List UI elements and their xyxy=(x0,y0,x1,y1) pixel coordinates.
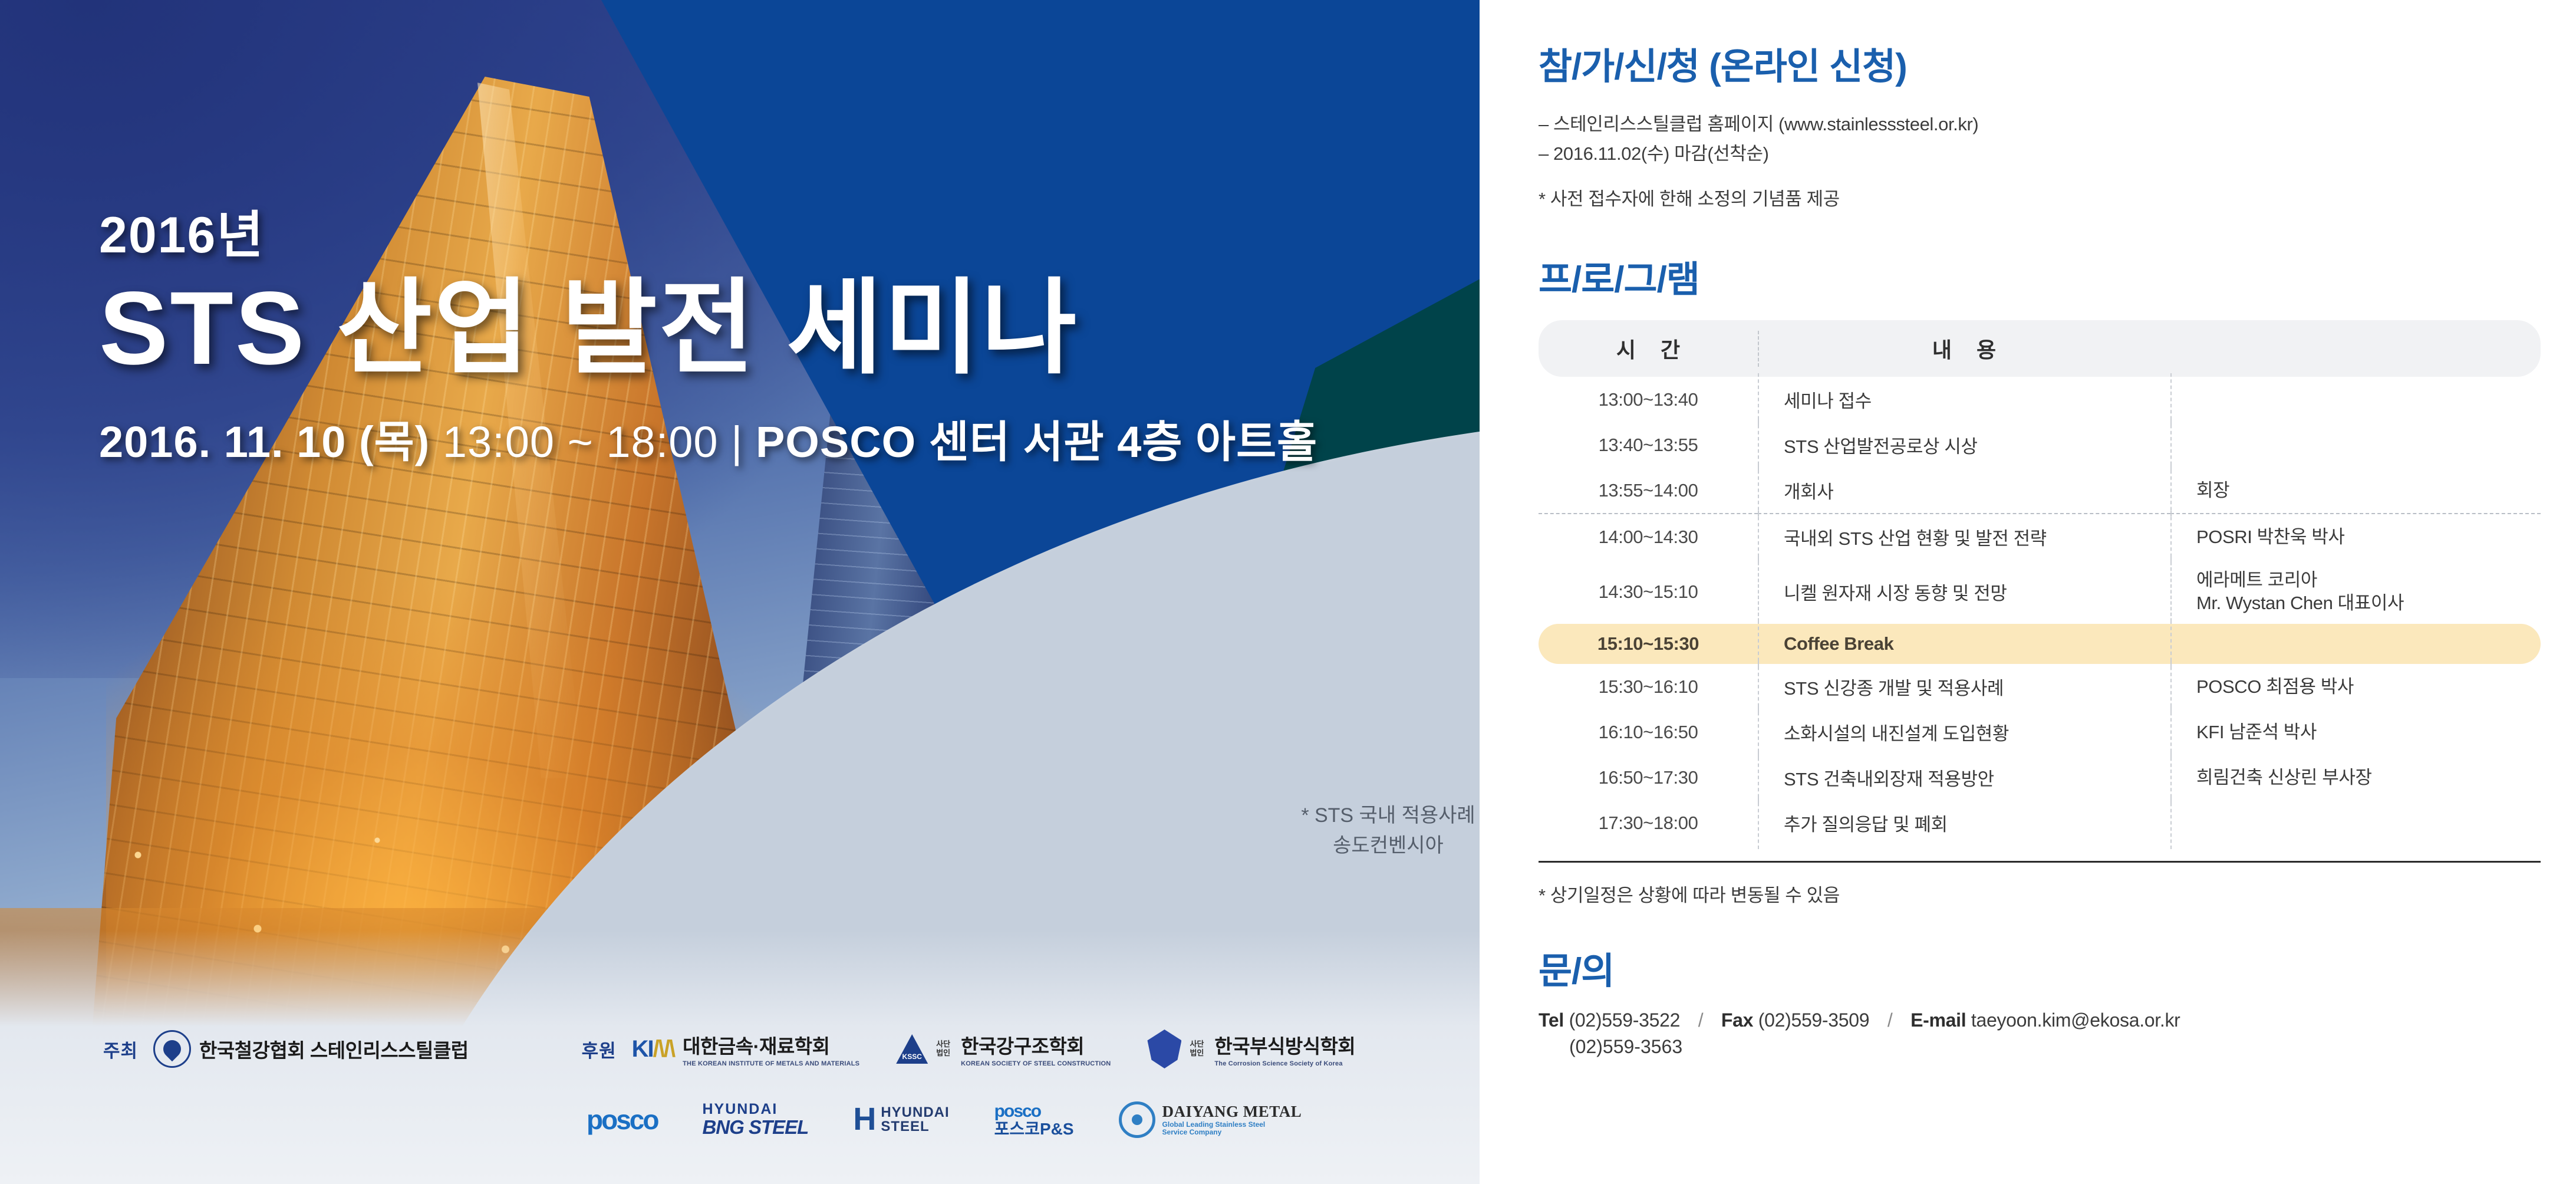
program-table: 시 간 내 용 13:00~13:40세미나 접수13:40~13:55STS … xyxy=(1539,320,2541,846)
daiyang-target-icon xyxy=(1119,1101,1155,1138)
contact-sep-2: / xyxy=(1887,1009,1893,1031)
speaker-line-1: 에라메트 코리아 xyxy=(2196,569,2541,591)
column-header-content: 내 용 xyxy=(1758,320,2170,377)
hero-divider: | xyxy=(731,417,743,466)
sponsor-kssc-name: 한국강구조학회 xyxy=(961,1035,1084,1057)
program-table-body: 13:00~13:40세미나 접수13:40~13:55STS 산업발전공로상 … xyxy=(1539,377,2541,846)
sponsor-kim-name: 대한금속·재료학회 xyxy=(683,1035,829,1057)
contact-line: Tel (02)559-3522 / Fax (02)559-3509 / E-… xyxy=(1539,1009,2541,1031)
cell-time: 14:00~14:30 xyxy=(1539,514,1758,560)
table-row: 13:40~13:55STS 산업발전공로상 시상 xyxy=(1539,422,2541,468)
hsteel-steel-text: STEEL xyxy=(881,1120,949,1134)
ksa-emblem-icon xyxy=(153,1030,191,1068)
cell-time: 15:30~16:10 xyxy=(1539,664,1758,709)
email-value[interactable]: taeyoon.kim@ekosa.or.kr xyxy=(1971,1009,2180,1031)
sponsor-label: 후원 xyxy=(582,1036,617,1063)
registration-line-1: – 스테인리스스틸클럽 홈페이지 (www.stainlesssteel.or.… xyxy=(1539,110,2541,139)
sponsor-cssk-sub: The Corrosion Science Society of Korea xyxy=(1214,1060,1355,1067)
hyundai-h-icon: H xyxy=(853,1107,876,1132)
program-note: * 상기일정은 상황에 따라 변동될 수 있음 xyxy=(1539,880,2541,907)
cell-speaker: 에라메트 코리아Mr. Wystan Chen 대표이사 xyxy=(2170,560,2541,624)
sponsor-kim-sub: THE KOREAN INSTITUTE OF METALS AND MATER… xyxy=(683,1060,859,1067)
daiyang-sub1: Global Leading Stainless Steel xyxy=(1162,1121,1302,1129)
host-org-name: 한국철강협회 스테인리스스틸클럽 xyxy=(199,1035,469,1063)
cell-speaker xyxy=(2170,800,2541,846)
hero-year: 2016년 xyxy=(99,208,1317,264)
speaker-line-2: Mr. Wystan Chen 대표이사 xyxy=(2196,592,2541,614)
logo-hyundai-steel: H HYUNDAI STEEL xyxy=(853,1106,949,1134)
cell-speaker: POSCO 최점용 박사 xyxy=(2170,664,2541,709)
daiyang-sub2: Service Company xyxy=(1162,1129,1302,1136)
seminar-poster: 2016년 STS 산업 발전 세미나 2016. 11. 10 (목) 13:… xyxy=(0,0,2576,1184)
tel-value-secondary: (02)559-3563 xyxy=(1569,1036,2541,1058)
speaker-line-1: KFI 남준석 박사 xyxy=(2196,721,2541,744)
logo-daiyang-metal: DAIYANG METAL Global Leading Stainless S… xyxy=(1119,1101,1302,1138)
photo-caption-line2: 송도컨벤시아 xyxy=(1291,831,1485,861)
photo-caption-line1: * STS 국내 적용사례 xyxy=(1291,801,1485,831)
hero-time: 13:00 ~ 18:00 xyxy=(443,417,719,466)
host-organization: 한국철강협회 스테인리스스틸클럽 xyxy=(153,1030,469,1068)
host-label: 주최 xyxy=(103,1036,138,1063)
hero-venue: POSCO 센터 서관 4층 아트홀 xyxy=(756,417,1317,466)
info-panel: 참/가/신/청 (온라인 신청) – 스테인리스스틸클럽 홈페이지 (www.s… xyxy=(1485,0,2576,1184)
table-header-row: 시 간 내 용 xyxy=(1539,320,2541,377)
fax-value: (02)559-3509 xyxy=(1758,1009,1870,1031)
cell-topic: Coffee Break xyxy=(1758,624,2170,664)
cell-topic: 소화시설의 내진설계 도입현황 xyxy=(1758,709,2170,755)
hero-headline: 2016년 STS 산업 발전 세미나 2016. 11. 10 (목) 13:… xyxy=(99,208,1317,470)
hero-title: STS 산업 발전 세미나 xyxy=(99,271,1317,387)
hero-visual-panel: 2016년 STS 산업 발전 세미나 2016. 11. 10 (목) 13:… xyxy=(0,0,1485,1184)
table-row: 13:00~13:40세미나 접수 xyxy=(1539,377,2541,422)
registration-note: * 사전 접수자에 한해 소정의 기념품 제공 xyxy=(1539,184,2541,211)
hsteel-hyundai-text: HYUNDAI xyxy=(881,1106,949,1120)
bng-steel-text: BNG STEEL xyxy=(702,1117,808,1137)
pns-posco-text: posco xyxy=(994,1102,1074,1120)
cell-topic: 국내외 STS 산업 현황 및 발전 전략 xyxy=(1758,514,2170,560)
table-row: 14:30~15:10니켈 원자재 시장 동향 및 전망에라메트 코리아Mr. … xyxy=(1539,560,2541,624)
program-section: 프/로/그/램 시 간 내 용 13:00~13:40세미나 접수13:40~1… xyxy=(1539,249,2541,907)
pns-korean-text: 포스코P&S xyxy=(994,1120,1074,1137)
email-label: E-mail xyxy=(1910,1009,1966,1031)
table-row: 15:30~16:10STS 신강종 개발 및 적용사례POSCO 최점용 박사 xyxy=(1539,664,2541,709)
footer-logos: 주최 한국철강협회 스테인리스스틸클럽 후원 KI/\/\ 대한금속·재료학회 … xyxy=(0,1007,1485,1184)
table-bottom-rule xyxy=(1539,861,2541,863)
cssk-diamond-icon xyxy=(1147,1030,1181,1068)
logo-hyundai-bng-steel: HYUNDAI BNG STEEL xyxy=(702,1102,808,1137)
cssk-prefix: 사단법인 xyxy=(1190,1040,1204,1058)
speaker-line-1: 희림건축 신상린 부사장 xyxy=(2196,767,2541,789)
cell-time: 17:30~18:00 xyxy=(1539,800,1758,846)
speaker-line-1: 회장 xyxy=(2196,479,2541,502)
sponsor-kssc: KSSC 사단법인 한국강구조학회 KOREAN SOCIETY OF STEE… xyxy=(896,1031,1111,1067)
cell-topic: STS 건축내외장재 적용방안 xyxy=(1758,755,2170,800)
contact-heading: 문/의 xyxy=(1539,941,2541,994)
table-row: 15:10~15:30Coffee Break xyxy=(1539,624,2541,664)
speaker-line-1: POSCO 최점용 박사 xyxy=(2196,676,2541,698)
cell-speaker: 희림건축 신상린 부사장 xyxy=(2170,755,2541,800)
program-heading: 프/로/그/램 xyxy=(1539,249,2541,302)
cell-speaker xyxy=(2170,422,2541,468)
registration-line-2: – 2016.11.02(수) 마감(선착순) xyxy=(1539,139,2541,169)
registration-list: – 스테인리스스틸클럽 홈페이지 (www.stainlesssteel.or.… xyxy=(1539,110,2541,169)
cell-speaker xyxy=(2170,624,2541,664)
kssc-triangle-icon: KSSC xyxy=(896,1034,928,1064)
cell-speaker: POSRI 박찬욱 박사 xyxy=(2170,514,2541,560)
cell-time: 13:55~14:00 xyxy=(1539,468,1758,514)
tel-value: (02)559-3522 xyxy=(1569,1009,1681,1031)
speaker-line-1: POSRI 박찬욱 박사 xyxy=(2196,526,2541,548)
cell-speaker: KFI 남준석 박사 xyxy=(2170,709,2541,755)
company-logo-row: posco HYUNDAI BNG STEEL H HYUNDAI STEEL … xyxy=(587,1101,1302,1138)
hero-datetime-venue: 2016. 11. 10 (목) 13:00 ~ 18:00 | POSCO 센… xyxy=(99,407,1317,470)
table-row: 16:50~17:30STS 건축내외장재 적용방안희림건축 신상린 부사장 xyxy=(1539,755,2541,800)
cell-topic: 추가 질의응답 및 폐회 xyxy=(1758,800,2170,846)
tel-label: Tel xyxy=(1539,1009,1564,1031)
cell-time: 15:10~15:30 xyxy=(1539,624,1758,664)
logo-posco: posco xyxy=(587,1104,657,1136)
cell-speaker: 회장 xyxy=(2170,468,2541,514)
cell-time: 14:30~15:10 xyxy=(1539,560,1758,624)
cell-topic: 개회사 xyxy=(1758,468,2170,514)
host-row: 주최 한국철강협회 스테인리스스틸클럽 후원 KI/\/\ 대한금속·재료학회 … xyxy=(103,1030,1392,1068)
logo-posco-pns: posco 포스코P&S xyxy=(994,1102,1074,1137)
table-row: 13:55~14:00개회사회장 xyxy=(1539,468,2541,514)
cell-topic: STS 신강종 개발 및 적용사례 xyxy=(1758,664,2170,709)
bng-hyundai-text: HYUNDAI xyxy=(702,1102,808,1117)
table-row: 14:00~14:30국내외 STS 산업 현황 및 발전 전략POSRI 박찬… xyxy=(1539,514,2541,560)
cell-speaker xyxy=(2170,377,2541,422)
hero-date: 2016. 11. 10 (목) xyxy=(99,417,430,466)
column-header-speaker xyxy=(2170,320,2541,377)
contact-section: 문/의 Tel (02)559-3522 / Fax (02)559-3509 … xyxy=(1539,941,2541,1058)
sponsor-cssk: 사단법인 한국부식방식학회 The Corrosion Science Soci… xyxy=(1147,1030,1355,1068)
cell-topic: STS 산업발전공로상 시상 xyxy=(1758,422,2170,468)
contact-sep-1: / xyxy=(1698,1009,1704,1031)
column-header-time: 시 간 xyxy=(1539,320,1758,377)
cell-topic: 세미나 접수 xyxy=(1758,377,2170,422)
photo-caption: * STS 국내 적용사례 송도컨벤시아 xyxy=(1291,801,1485,861)
table-row: 17:30~18:00추가 질의응답 및 폐회 xyxy=(1539,800,2541,846)
fax-label: Fax xyxy=(1721,1009,1753,1031)
daiyang-name: DAIYANG METAL xyxy=(1162,1103,1302,1121)
sponsor-kim: KI/\/\ 대한금속·재료학회 THE KOREAN INSTITUTE OF… xyxy=(632,1031,860,1067)
cell-time: 13:00~13:40 xyxy=(1539,377,1758,422)
panel-edge-strip xyxy=(1480,0,1485,1184)
registration-heading: 참/가/신/청 (온라인 신청) xyxy=(1539,37,2541,90)
cell-time: 16:10~16:50 xyxy=(1539,709,1758,755)
sponsor-kssc-sub: KOREAN SOCIETY OF STEEL CONSTRUCTION xyxy=(961,1060,1111,1067)
cell-time: 13:40~13:55 xyxy=(1539,422,1758,468)
sponsor-cssk-name: 한국부식방식학회 xyxy=(1214,1035,1355,1057)
table-row: 16:10~16:50소화시설의 내진설계 도입현황KFI 남준석 박사 xyxy=(1539,709,2541,755)
kssc-prefix: 사단법인 xyxy=(936,1040,950,1058)
kim-logo-icon: KI/\/\ xyxy=(632,1036,674,1063)
cell-time: 16:50~17:30 xyxy=(1539,755,1758,800)
cell-topic: 니켈 원자재 시장 동향 및 전망 xyxy=(1758,560,2170,624)
